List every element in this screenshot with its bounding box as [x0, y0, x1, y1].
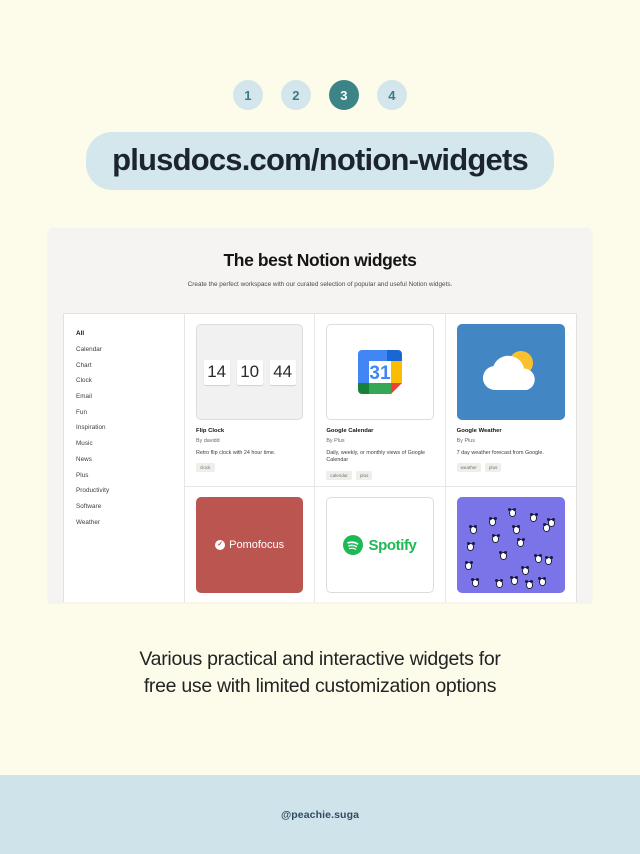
spotify-wordmark: Spotify	[368, 537, 416, 554]
sidebar-item-inspiration[interactable]: Inspiration	[76, 420, 184, 436]
widget-description: 7 day weather forecast from Google.	[457, 450, 565, 458]
widget-name: Google Weather	[457, 428, 565, 434]
google-calendar-icon: 31	[354, 346, 406, 398]
widget-card-flip-clock[interactable]: 14 10 44 Flip Clock By davidd Retro flip…	[185, 314, 315, 487]
widget-card-pandas[interactable]	[446, 487, 576, 602]
widget-tag[interactable]: plus	[485, 463, 501, 472]
panda-icon	[500, 552, 507, 560]
widget-author: By Plus	[457, 438, 565, 444]
panda-icon	[539, 578, 546, 586]
caption: Various practical and interactive widget…	[0, 646, 640, 700]
widget-grid: 14 10 44 Flip Clock By davidd Retro flip…	[185, 314, 576, 602]
page-title: The best Notion widgets	[58, 250, 582, 271]
sidebar-item-email[interactable]: Email	[76, 389, 184, 405]
widget-description: Retro flip clock with 24 hour time.	[196, 450, 303, 458]
widget-tags: clock	[196, 463, 303, 472]
caption-line-1: Various practical and interactive widget…	[60, 646, 580, 673]
widget-tag[interactable]: plus	[356, 471, 372, 480]
url-pill-container: plusdocs.com/notion-widgets	[0, 132, 640, 190]
panda-icon	[511, 577, 518, 585]
spotify-thumbnail: Spotify	[326, 497, 433, 593]
footer-bar: @peachie.suga	[0, 775, 640, 854]
widget-name: Google Calendar	[326, 428, 433, 434]
caption-line-2: free use with limited customization opti…	[60, 673, 580, 700]
sidebar-item-news[interactable]: News	[76, 452, 184, 468]
sidebar-item-all[interactable]: All	[76, 326, 184, 342]
pomofocus-logo: ✓ Pomofocus	[215, 539, 284, 551]
pomofocus-wordmark: Pomofocus	[229, 539, 284, 551]
sidebar-item-chart[interactable]: Chart	[76, 357, 184, 373]
widget-name: Flip Clock	[196, 428, 303, 434]
widget-card-spotify[interactable]: Spotify	[315, 487, 445, 602]
spotify-logo: Spotify	[343, 535, 416, 555]
panda-icon	[526, 581, 533, 589]
widget-author: By Plus	[326, 438, 433, 444]
widget-card-google-weather[interactable]: Google Weather By Plus 7 day weather for…	[446, 314, 576, 487]
sidebar-item-weather[interactable]: Weather	[76, 514, 184, 530]
panda-icon	[467, 543, 474, 551]
pomofocus-thumbnail: ✓ Pomofocus	[196, 497, 303, 593]
panda-icon	[489, 518, 496, 526]
panda-thumbnail	[457, 497, 565, 593]
sidebar-item-fun[interactable]: Fun	[76, 404, 184, 420]
flip-digit-seconds: 44	[270, 360, 296, 385]
panda-icon	[472, 579, 479, 587]
sidebar-item-software[interactable]: Software	[76, 499, 184, 515]
widget-author: By davidd	[196, 438, 303, 444]
widget-tag[interactable]: weather	[457, 463, 481, 472]
sidebar-item-clock[interactable]: Clock	[76, 373, 184, 389]
widget-tags: calendar plus	[326, 471, 433, 480]
google-weather-thumbnail	[457, 324, 565, 420]
flip-clock-thumbnail: 14 10 44	[196, 324, 303, 420]
sidebar-item-music[interactable]: Music	[76, 436, 184, 452]
flip-clock-icon: 14 10 44	[204, 360, 296, 385]
screenshot-header: The best Notion widgets Create the perfe…	[48, 228, 592, 301]
google-calendar-thumbnail: 31	[326, 324, 433, 420]
sidebar-item-calendar[interactable]: Calendar	[76, 342, 184, 358]
step-1[interactable]: 1	[233, 80, 263, 110]
cloud-sun-icon	[475, 346, 547, 398]
sidebar-item-productivity[interactable]: Productivity	[76, 483, 184, 499]
flip-digit-minutes: 10	[237, 360, 263, 385]
panda-icon	[517, 539, 524, 547]
panda-icon	[513, 526, 520, 534]
widget-card-pomofocus[interactable]: ✓ Pomofocus	[185, 487, 315, 602]
page-subtitle: Create the perfect workspace with our cu…	[58, 280, 582, 291]
widget-tag[interactable]: clock	[196, 463, 215, 472]
panda-icon	[530, 514, 537, 522]
panda-icon	[496, 580, 503, 588]
screenshot-body: All Calendar Chart Clock Email Fun Inspi…	[63, 313, 577, 602]
flip-digit-hours: 14	[204, 360, 230, 385]
category-sidebar: All Calendar Chart Clock Email Fun Inspi…	[64, 314, 185, 602]
panda-icon	[470, 526, 477, 534]
step-indicator: 1 2 3 4	[0, 0, 640, 110]
panda-icon	[509, 509, 516, 517]
svg-text:31: 31	[369, 363, 391, 384]
check-circle-icon: ✓	[215, 540, 225, 550]
widget-tags: weather plus	[457, 463, 565, 472]
panda-icon	[548, 519, 555, 527]
panda-icon	[492, 535, 499, 543]
step-4[interactable]: 4	[377, 80, 407, 110]
panda-icon	[465, 562, 472, 570]
author-handle[interactable]: @peachie.suga	[281, 809, 359, 821]
step-2[interactable]: 2	[281, 80, 311, 110]
widget-description: Daily, weekly, or monthly views of Googl…	[326, 450, 433, 466]
panda-icon	[522, 567, 529, 575]
widget-card-google-calendar[interactable]: 31 Google Calendar By Plus Daily, weekly…	[315, 314, 445, 487]
sidebar-item-plus[interactable]: Plus	[76, 467, 184, 483]
website-screenshot-card: The best Notion widgets Create the perfe…	[48, 228, 592, 602]
step-3-active[interactable]: 3	[329, 80, 359, 110]
panda-icon	[545, 557, 552, 565]
url-pill[interactable]: plusdocs.com/notion-widgets	[86, 132, 554, 190]
spotify-icon	[343, 535, 363, 555]
panda-icon	[535, 555, 542, 563]
widget-tag[interactable]: calendar	[326, 471, 352, 480]
